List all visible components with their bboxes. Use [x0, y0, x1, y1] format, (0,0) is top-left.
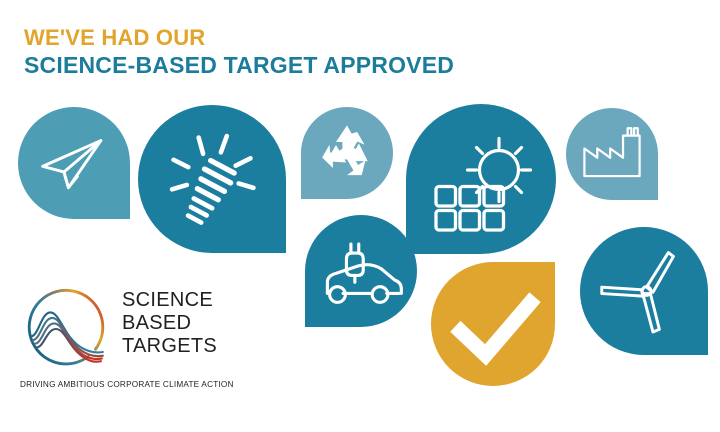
- headline-block: WE'VE HAD OUR SCIENCE-BASED TARGET APPRO…: [24, 24, 454, 79]
- sbt-logo-tagline: DRIVING AMBITIOUS CORPORATE CLIMATE ACTI…: [20, 380, 234, 389]
- pin-light-bulb: [138, 105, 286, 253]
- logo-word-science: SCIENCE: [122, 289, 217, 312]
- wind-turbine-icon: [580, 227, 708, 355]
- pin-wind-turbine: [580, 227, 708, 355]
- pin-recycle: [301, 107, 393, 199]
- paper-plane-icon: [18, 107, 130, 219]
- factory-icon: [566, 108, 658, 200]
- sbt-logo: SCIENCE BASED TARGETS DRIVING AMBITIOUS …: [20, 283, 270, 395]
- electric-car-icon: [305, 215, 417, 327]
- headline-line-2: SCIENCE-BASED TARGET APPROVED: [24, 51, 454, 79]
- sbt-logo-wordmark: SCIENCE BASED TARGETS: [122, 289, 217, 358]
- headline-line-1: WE'VE HAD OUR: [24, 24, 454, 51]
- poster-canvas: WE'VE HAD OUR SCIENCE-BASED TARGET APPRO…: [0, 0, 720, 432]
- logo-word-based: BASED: [122, 312, 217, 335]
- checkmark-icon: [431, 262, 555, 386]
- pin-paper-plane: [18, 107, 130, 219]
- pin-factory: [566, 108, 658, 200]
- pin-solar-panel: [406, 104, 556, 254]
- light-bulb-icon: [138, 105, 286, 253]
- sbt-logo-mark: [20, 283, 112, 375]
- pin-approved-check: [431, 262, 555, 386]
- logo-word-targets: TARGETS: [122, 335, 217, 358]
- recycle-icon: [301, 107, 393, 199]
- solar-panel-icon: [406, 104, 556, 254]
- pin-electric-car: [305, 215, 417, 327]
